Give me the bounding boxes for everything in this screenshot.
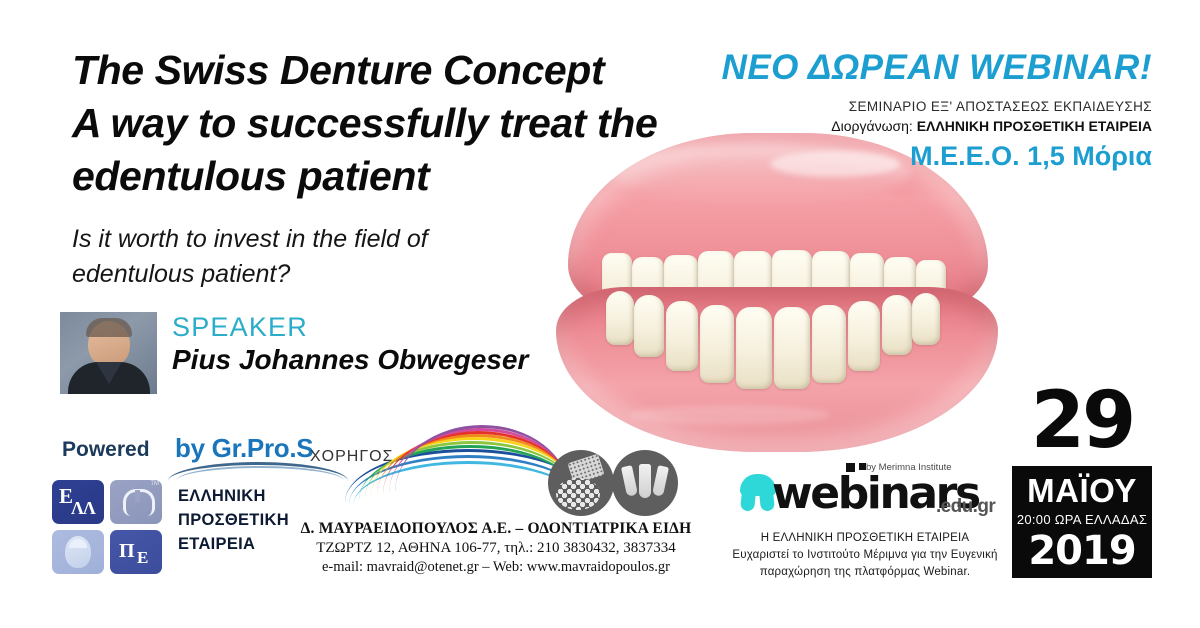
grpros-brand: by Gr.Pro.S xyxy=(175,433,313,464)
hpe-tile-pe: Π Ε xyxy=(110,530,162,574)
trademark-label: TM xyxy=(150,481,159,487)
webinars-logo[interactable]: by Merimna Institute webinars .edu.gr xyxy=(738,470,988,520)
sponsor-details: Δ. ΜΑΥΡΑΕΙΔΟΠΟΥΛΟΣ Α.Ε. – ΟΔΟΝΤΙΑΤΡΙΚΑ Ε… xyxy=(300,520,692,576)
title-line-1: The Swiss Denture Concept xyxy=(72,44,632,97)
tooth-lower xyxy=(606,291,634,345)
speaker-name: Pius Johannes Obwegeser xyxy=(172,344,528,376)
announcement-seminar-line: ΣΕΜΙΝΑΡΙΟ ΕΞ' ΑΠΟΣΤΑΣΕΩΣ ΕΚΠΑΙΔΕΥΣΗΣ xyxy=(849,99,1152,114)
hpe-tile-pe-e: Ε xyxy=(137,548,148,568)
hpe-tile-ell-ll: ΛΛ xyxy=(71,498,95,519)
hpe-name-line-3: ΕΤΑΙΡΕΙΑ xyxy=(178,532,289,556)
credit-line-3: παραχώρηση της πλατφόρμας Webinar. xyxy=(700,564,1030,581)
classical-head-icon xyxy=(65,536,91,568)
date-time: 20:00 ΩΡΑ ΕΛΛΑΔΑΣ xyxy=(1012,512,1152,527)
subtitle-line-1: Is it worth to invest in the field of xyxy=(72,222,502,257)
announcement-credits: Μ.Ε.Ε.Ο. 1,5 Μόρια xyxy=(910,141,1152,172)
tooth-lower xyxy=(848,301,880,371)
tooth-lower xyxy=(812,305,846,383)
vial-icon xyxy=(621,465,638,497)
tooth-lower xyxy=(666,301,698,371)
hpe-tile-portrait xyxy=(52,530,104,574)
gum-highlight xyxy=(770,151,900,177)
organizer-prefix: Διοργάνωση: xyxy=(831,118,913,134)
credit-line-2: Ευχαριστεί το Ινστιτούτο Μέριμνα για την… xyxy=(700,547,1030,564)
date-day: 29 xyxy=(1012,376,1152,466)
webinar-poster: The Swiss Denture Concept A way to succe… xyxy=(0,0,1200,628)
tooth-lower xyxy=(736,307,772,389)
vial-icon xyxy=(652,465,669,497)
hpe-tile-tooth: TM xyxy=(110,480,162,524)
granules-icon xyxy=(556,478,600,510)
announcement-headline: ΝΕΟ ΔΩΡΕΑΝ WEBINAR! xyxy=(722,48,1152,88)
sponsor-company: Δ. ΜΑΥΡΑΕΙΔΟΠΟΥΛΟΣ Α.Ε. – ΟΔΟΝΤΙΑΤΡΙΚΑ Ε… xyxy=(300,520,692,538)
sponsor-vials-icon xyxy=(612,450,678,516)
credit-line-1: Η ΕΛΛΗΝΙΚΗ ΠΡΟΣΘΕΤΙΚΗ ΕΤΑΙΡΕΙΑ xyxy=(700,530,1030,547)
page-subtitle: Is it worth to invest in the field of ed… xyxy=(72,222,502,292)
tooth-lower xyxy=(774,307,810,389)
speaker-block: SPEAKER Pius Johannes Obwegeser xyxy=(60,312,530,394)
hpe-name-line-2: ΠΡΟΣΘΕΤΙΚΗ xyxy=(178,508,289,532)
hpe-logo: Ε ΛΛ TM Π Ε xyxy=(52,480,164,576)
gum-highlight xyxy=(630,405,830,425)
hpe-tile-pe-p: Π xyxy=(119,540,135,563)
organizer-name: ΕΛΛΗΝΙΚΗ ΠΡΟΣΘΕΤΙΚΗ ΕΤΑΙΡΕΙΑ xyxy=(917,118,1152,134)
tooth-lower xyxy=(912,293,940,345)
sponsor-address: ΤΖΩΡΤΖ 12, ΑΘΗΝΑ 106-77, τηλ.: 210 38304… xyxy=(300,540,692,557)
hpe-name-line-1: ΕΛΛΗΝΙΚΗ xyxy=(178,484,289,508)
speaker-avatar xyxy=(60,312,157,394)
date-detail-area: ΜΑΪΟΥ 20:00 ΩΡΑ ΕΛΛΑΔΑΣ 2019 xyxy=(1012,466,1152,578)
powered-prefix: Powered xyxy=(62,438,150,462)
event-date-block: 29 ΜΑΪΟΥ 20:00 ΩΡΑ ΕΛΛΑΔΑΣ 2019 xyxy=(1012,382,1152,578)
sponsor-contact[interactable]: e-mail: mavraid@otenet.gr – Web: www.mav… xyxy=(300,559,692,576)
subtitle-line-2: edentulous patient? xyxy=(72,257,502,292)
tooth-lower xyxy=(882,295,912,355)
webinars-credit: Η ΕΛΛΗΝΙΚΗ ΠΡΟΣΘΕΤΙΚΗ ΕΤΑΙΡΕΙΑ Ευχαριστε… xyxy=(700,530,1030,581)
webinars-tld: .edu.gr xyxy=(936,496,995,518)
title-line-2: A way to successfully treat the xyxy=(72,97,632,150)
tooth-lower xyxy=(634,295,664,357)
avatar-hair xyxy=(86,318,132,337)
vial-icon xyxy=(639,464,651,498)
announcement-organizer-row: Διοργάνωση: ΕΛΛΗΝΙΚΗ ΠΡΟΣΘΕΤΙΚΗ ΕΤΑΙΡΕΙΑ xyxy=(831,118,1152,134)
date-month: ΜΑΪΟΥ xyxy=(1012,472,1152,510)
date-day-area: 29 xyxy=(1012,382,1152,466)
speaker-label: SPEAKER xyxy=(172,312,308,343)
tooth-lower xyxy=(700,305,734,383)
date-year: 2019 xyxy=(1012,528,1152,574)
title-line-3: edentulous patient xyxy=(72,150,632,203)
hpe-tile-ell: Ε ΛΛ xyxy=(52,480,104,524)
tooth-icon xyxy=(123,489,155,516)
sponsor-material-icon xyxy=(548,450,614,516)
page-title: The Swiss Denture Concept A way to succe… xyxy=(72,44,632,203)
hpe-name: ΕΛΛΗΝΙΚΗ ΠΡΟΣΘΕΤΙΚΗ ΕΤΑΙΡΕΙΑ xyxy=(178,484,289,556)
